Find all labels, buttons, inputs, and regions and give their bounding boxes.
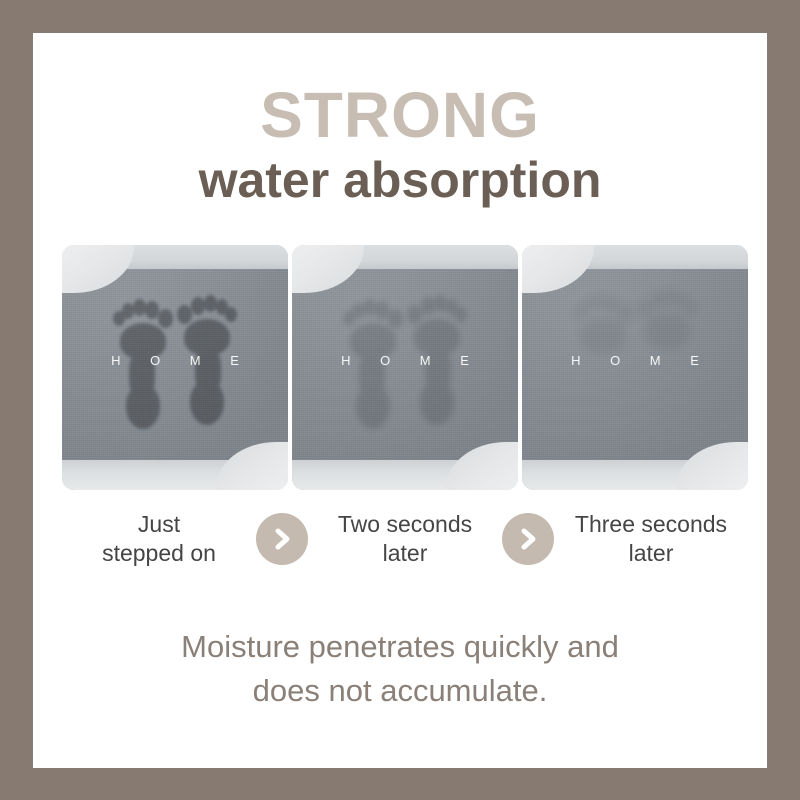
footprint-toe (225, 307, 237, 322)
arrow-slot-2 (502, 513, 554, 565)
footprint-toe (363, 299, 376, 316)
footprint-heel (190, 381, 224, 425)
footprint-toe (375, 301, 389, 319)
headline-primary: STRONG (33, 83, 767, 148)
arrow-slot-1 (256, 513, 308, 565)
caption-stage-1: Just stepped on (62, 510, 256, 569)
tagline-block: Moisture penetrates quickly and does not… (33, 625, 767, 713)
chevron-right-icon (256, 513, 308, 565)
caption-line-2: later (554, 539, 748, 568)
footprint-toe (191, 297, 205, 315)
footprint-toe (113, 311, 125, 326)
footprint-toe (618, 303, 633, 322)
heading-block: STRONG water absorption (33, 83, 767, 208)
footprint-toe (685, 301, 697, 316)
footprint-toe (593, 293, 606, 310)
tagline-line-2: does not accumulate. (33, 669, 767, 713)
promo-poster: STRONG water absorption (0, 0, 800, 800)
tagline-line-1: Moisture penetrates quickly and (33, 625, 767, 669)
footprint-toe (455, 307, 467, 322)
caption-line-1: Three seconds (554, 510, 748, 539)
product-panel-stage-1: H O M E (62, 245, 288, 490)
footprint-toe (664, 289, 677, 306)
footprint-heel (420, 381, 454, 425)
footprint-heel (126, 385, 160, 429)
caption-line-2: later (308, 539, 502, 568)
mat-home-label: H O M E (62, 353, 288, 368)
footprint-toe (434, 295, 447, 312)
poster-inner-canvas: STRONG water absorption (33, 33, 767, 768)
mat-home-label: H O M E (522, 353, 748, 368)
mat-home-label: H O M E (292, 353, 518, 368)
product-panel-stage-2: H O M E (292, 245, 518, 490)
footprint-toe (204, 295, 217, 312)
caption-line-1: Just (62, 510, 256, 539)
footprint-toe (388, 309, 403, 328)
captions-row: Just stepped on Two seconds later (62, 503, 748, 575)
footprint-toe (421, 297, 435, 315)
footprint-toe (605, 295, 619, 313)
product-panels-row: H O M E (62, 245, 748, 490)
footprint-toe (177, 305, 192, 324)
footprint-toe (573, 305, 585, 320)
footprint-ball (580, 317, 626, 353)
product-panel-stage-3: H O M E (522, 245, 748, 490)
footprint-toe (651, 291, 665, 309)
footprint-toe (133, 299, 146, 316)
footprint-toe (343, 311, 355, 326)
caption-stage-2: Two seconds later (308, 510, 502, 569)
headline-secondary: water absorption (33, 152, 767, 208)
footprint-toe (158, 309, 173, 328)
caption-line-1: Two seconds (308, 510, 502, 539)
footprint-toe (407, 305, 422, 324)
footprint-heel (356, 385, 390, 429)
footprint-ball (644, 313, 690, 349)
caption-stage-3: Three seconds later (554, 510, 748, 569)
caption-line-2: stepped on (62, 539, 256, 568)
footprint-toe (637, 299, 652, 318)
chevron-right-icon (502, 513, 554, 565)
footprint-toe (145, 301, 159, 319)
